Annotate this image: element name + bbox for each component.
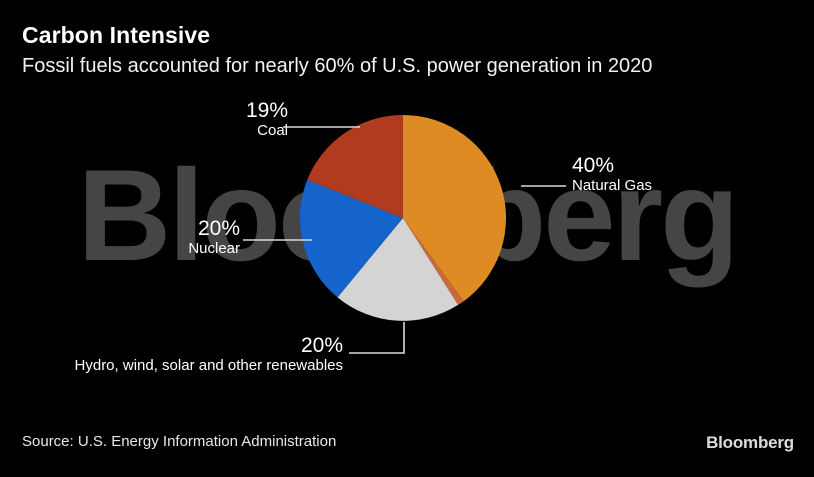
bloomberg-logo: Bloomberg [706, 433, 794, 453]
callout-coal-value: 19% [168, 100, 288, 122]
callout-renewables: 20% Hydro, wind, solar and other renewab… [60, 335, 343, 376]
callout-natural-gas: 40% Natural Gas [572, 155, 772, 196]
source-note: Source: U.S. Energy Information Administ… [22, 433, 336, 450]
callout-nuclear-label: Nuclear [120, 240, 240, 259]
callout-coal: 19% Coal [168, 100, 288, 141]
callout-natural-gas-label: Natural Gas [572, 177, 772, 196]
callout-nuclear: 20% Nuclear [120, 218, 240, 259]
chart-footer: Source: U.S. Energy Information Administ… [0, 423, 814, 477]
bloomberg-chart-card: Carbon Intensive Fossil fuels accounted … [0, 0, 814, 477]
callout-nuclear-value: 20% [120, 218, 240, 240]
callout-coal-label: Coal [168, 122, 288, 141]
leader-line-renewables [349, 322, 404, 353]
plot-area: 19% Coal 40% Natural Gas 20% Nuclear 20%… [0, 0, 814, 477]
callout-natural-gas-value: 40% [572, 155, 772, 177]
callout-renewables-value: 20% [60, 335, 343, 357]
callout-renewables-label: Hydro, wind, solar and other renewables [60, 357, 343, 376]
